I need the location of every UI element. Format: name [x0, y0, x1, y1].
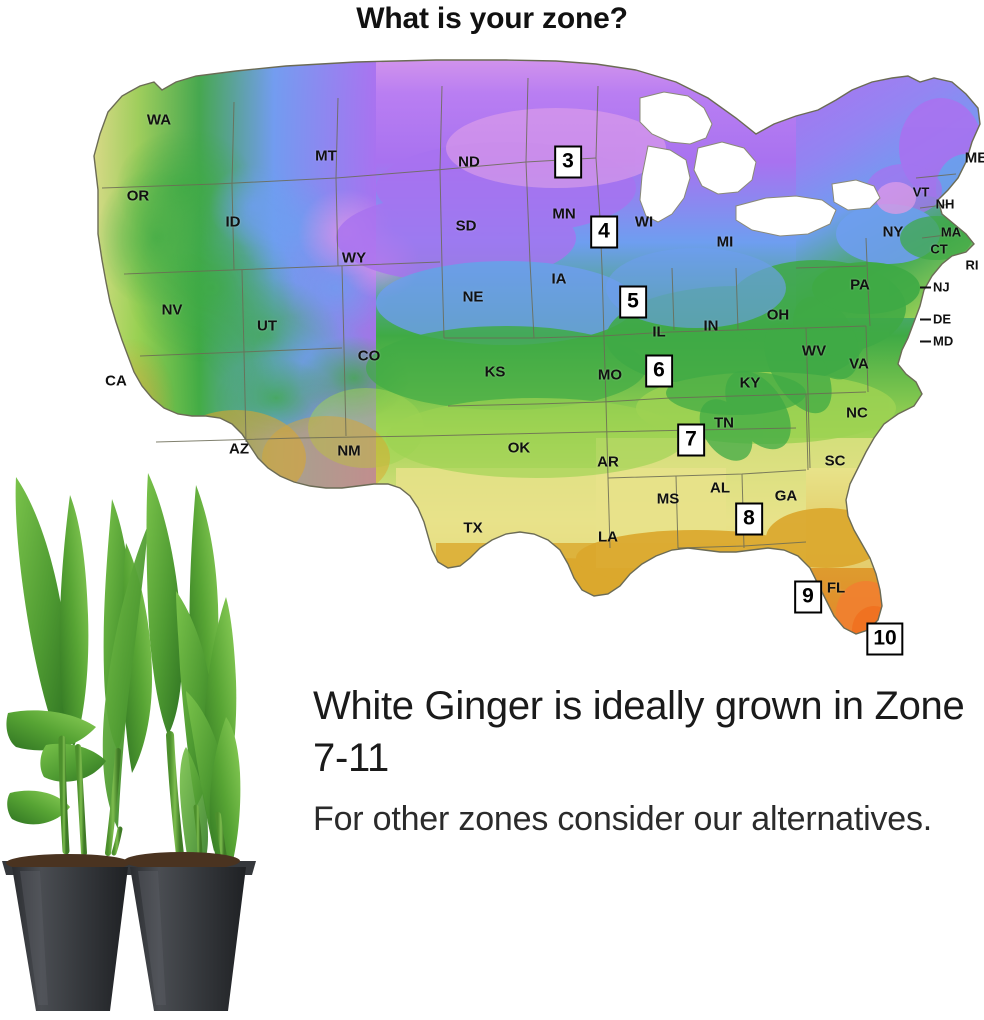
state-label-ct: CT [930, 242, 947, 257]
state-label-ia: IA [552, 271, 567, 288]
state-label-il: IL [652, 324, 665, 341]
state-label-ny: NY [883, 224, 904, 241]
state-label-ma: MA [941, 225, 961, 240]
state-label-pa: PA [850, 277, 870, 294]
state-label-mt: MT [315, 148, 337, 165]
state-label-fl: FL [827, 580, 845, 597]
state-label-ri: RI [966, 258, 979, 273]
state-label-mi: MI [717, 234, 734, 251]
state-label-al: AL [710, 480, 730, 497]
state-label-vt: VT [913, 185, 930, 200]
leader-label-text: MD [933, 334, 953, 349]
state-label-ga: GA [775, 488, 798, 505]
page-title: What is your zone? [0, 2, 984, 36]
state-leader-label-md: MD [920, 334, 953, 349]
state-label-sc: SC [825, 453, 846, 470]
state-leader-label-de: DE [920, 312, 951, 327]
leader-line [920, 286, 931, 288]
state-label-co: CO [358, 348, 381, 365]
leader-line [920, 318, 931, 320]
zone-marker-8: 8 [735, 503, 763, 536]
state-label-wi: WI [635, 214, 653, 231]
state-label-mn: MN [552, 206, 575, 223]
state-label-tn: TN [714, 415, 734, 432]
state-label-oh: OH [767, 307, 790, 324]
state-label-ok: OK [508, 440, 531, 457]
leader-label-text: NJ [933, 280, 950, 295]
state-label-ca: CA [105, 373, 127, 390]
zone-marker-10: 10 [866, 623, 903, 656]
state-label-nm: NM [337, 443, 360, 460]
zone-marker-4: 4 [590, 216, 618, 249]
state-label-nv: NV [162, 302, 183, 319]
product-copy: White Ginger is ideally grown in Zone 7-… [313, 680, 973, 842]
zone-marker-3: 3 [554, 146, 582, 179]
state-label-wv: WV [802, 343, 826, 360]
state-label-in: IN [704, 318, 719, 335]
state-label-mo: MO [598, 367, 622, 384]
state-label-ut: UT [257, 318, 277, 335]
zone-marker-6: 6 [645, 355, 673, 388]
zone-marker-7: 7 [677, 424, 705, 457]
state-label-wa: WA [147, 112, 171, 129]
state-label-ky: KY [740, 375, 761, 392]
zone-map-infographic: What is your zone? [0, 0, 984, 1020]
state-label-la: LA [598, 529, 618, 546]
leader-line [920, 340, 931, 342]
state-label-sd: SD [456, 218, 477, 235]
copy-subline: For other zones consider our alternative… [313, 796, 973, 842]
leader-label-text: DE [933, 312, 951, 327]
state-label-ne: NE [463, 289, 484, 306]
state-label-ar: AR [597, 454, 619, 471]
state-label-nh: NH [936, 197, 955, 212]
copy-headline: White Ginger is ideally grown in Zone 7-… [313, 680, 973, 784]
zone-marker-9: 9 [794, 581, 822, 614]
state-label-nd: ND [458, 154, 480, 171]
state-label-nc: NC [846, 405, 868, 422]
state-label-tx: TX [463, 520, 482, 537]
state-label-wy: WY [342, 250, 366, 267]
state-label-id: ID [226, 214, 241, 231]
state-label-me: ME [965, 150, 984, 167]
state-label-va: VA [849, 356, 869, 373]
white-ginger-plant-photo [0, 455, 300, 1020]
state-label-ms: MS [657, 491, 680, 508]
state-label-ks: KS [485, 364, 506, 381]
zone-marker-5: 5 [619, 286, 647, 319]
state-label-or: OR [127, 188, 150, 205]
leaf-cluster-right [147, 473, 241, 885]
leaf-cluster-left [6, 477, 152, 853]
state-leader-label-nj: NJ [920, 280, 950, 295]
